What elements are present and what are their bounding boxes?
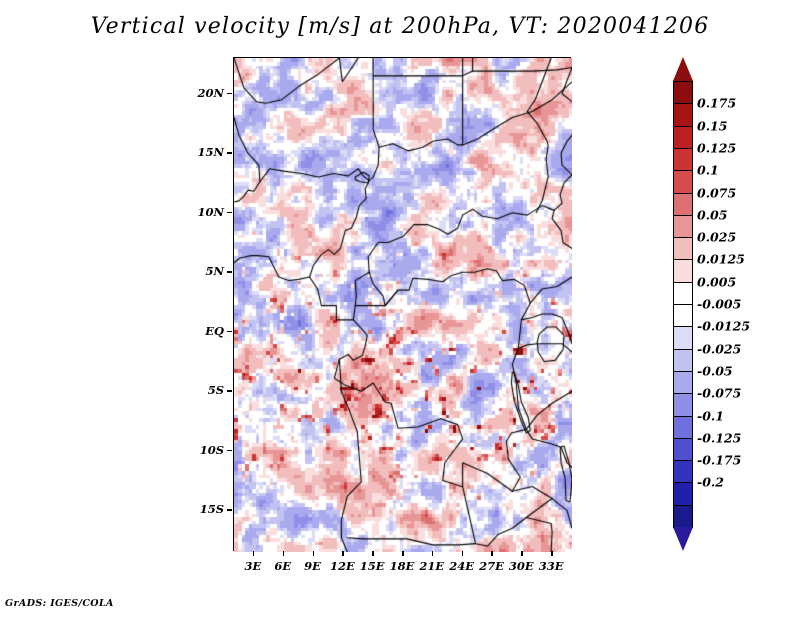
colorbar-segment — [673, 148, 693, 172]
colorbar-segment — [673, 215, 693, 239]
colorbar-segment — [673, 103, 693, 127]
latitude-tick-label: EQ — [0, 324, 224, 338]
attribution-footer: GrADS: IGES/COLA — [5, 598, 114, 609]
colorbar-tick-label: 0.0125 — [697, 252, 745, 267]
country-borders-overlay — [234, 58, 572, 552]
latitude-tick-mark — [227, 152, 232, 154]
colorbar-segment — [673, 193, 693, 217]
colorbar-arrow-top — [673, 57, 693, 81]
colorbar-tick-label: 0.1 — [697, 163, 719, 178]
colorbar-segment — [673, 282, 693, 306]
longitude-tick-mark — [342, 551, 344, 556]
latitude-tick-label: 5S — [0, 383, 224, 397]
longitude-tick-label: 21E — [419, 559, 444, 573]
colorbar-segment — [673, 416, 693, 440]
latitude-tick-mark — [227, 390, 232, 392]
colorbar-segment — [673, 170, 693, 194]
colorbar-tick-label: -0.05 — [697, 363, 733, 378]
latitude-tick-label: 10S — [0, 443, 224, 457]
longitude-tick-label: 9E — [304, 559, 321, 573]
latitude-tick-label: 15S — [0, 502, 224, 516]
colorbar-segment — [673, 126, 693, 150]
colorbar-tick-label: -0.125 — [697, 430, 741, 445]
longitude-tick-mark — [283, 551, 285, 556]
longitude-tick-mark — [551, 551, 553, 556]
latitude-tick-mark — [227, 331, 232, 333]
longitude-tick-mark — [402, 551, 404, 556]
colorbar-tick-label: -0.0125 — [697, 319, 750, 334]
latitude-tick-label: 5N — [0, 264, 224, 278]
colorbar-tick-label: 0.025 — [697, 230, 736, 245]
longitude-tick-label: 24E — [449, 559, 474, 573]
colorbar-tick-label: -0.005 — [697, 297, 741, 312]
latitude-tick-label: 15N — [0, 145, 224, 159]
colorbar-tick-label: 0.175 — [697, 96, 736, 111]
colorbar-tick-label: -0.075 — [697, 386, 741, 401]
colorbar-tick-label: -0.1 — [697, 408, 724, 423]
latitude-tick-mark — [227, 93, 232, 95]
latitude-tick-mark — [227, 271, 232, 273]
longitude-tick-mark — [521, 551, 523, 556]
colorbar-segment — [673, 393, 693, 417]
longitude-tick-label: 33E — [539, 559, 564, 573]
longitude-tick-label: 6E — [274, 559, 291, 573]
colorbar-segment — [673, 349, 693, 373]
latitude-tick-mark — [227, 450, 232, 452]
page-title: Vertical velocity [m/s] at 200hPa, VT: 2… — [0, 14, 800, 39]
colorbar-segment — [673, 237, 693, 261]
colorbar-segment — [673, 438, 693, 462]
latitude-tick-label: 20N — [0, 86, 224, 100]
longitude-tick-label: 3E — [244, 559, 261, 573]
longitude-tick-label: 18E — [390, 559, 415, 573]
colorbar-segment — [673, 482, 693, 506]
colorbar-segment — [673, 460, 693, 484]
longitude-tick-label: 27E — [479, 559, 504, 573]
map-plot-area — [233, 57, 571, 551]
longitude-tick-label: 15E — [360, 559, 385, 573]
colorbar-segment — [673, 371, 693, 395]
longitude-tick-label: 30E — [509, 559, 534, 573]
longitude-tick-mark — [253, 551, 255, 556]
longitude-tick-mark — [372, 551, 374, 556]
colorbar: 0.1750.150.1250.10.0750.050.0250.01250.0… — [673, 57, 693, 551]
colorbar-tick-label: 0.15 — [697, 118, 727, 133]
latitude-tick-mark — [227, 212, 232, 214]
colorbar-segment — [673, 304, 693, 328]
latitude-tick-label: 10N — [0, 205, 224, 219]
longitude-tick-mark — [462, 551, 464, 556]
longitude-tick-label: 12E — [330, 559, 355, 573]
colorbar-arrow-bottom — [673, 527, 693, 551]
colorbar-segment — [673, 81, 693, 105]
colorbar-segment — [673, 505, 693, 529]
colorbar-segment — [673, 326, 693, 350]
latitude-tick-mark — [227, 509, 232, 511]
longitude-tick-mark — [491, 551, 493, 556]
colorbar-tick-label: -0.2 — [697, 475, 724, 490]
colorbar-segment — [673, 259, 693, 283]
colorbar-tick-label: -0.025 — [697, 341, 741, 356]
longitude-tick-mark — [313, 551, 315, 556]
colorbar-tick-label: 0.005 — [697, 274, 736, 289]
colorbar-tick-label: 0.125 — [697, 140, 736, 155]
colorbar-tick-label: -0.175 — [697, 453, 741, 468]
colorbar-tick-label: 0.075 — [697, 185, 736, 200]
colorbar-tick-label: 0.05 — [697, 207, 727, 222]
longitude-tick-mark — [432, 551, 434, 556]
